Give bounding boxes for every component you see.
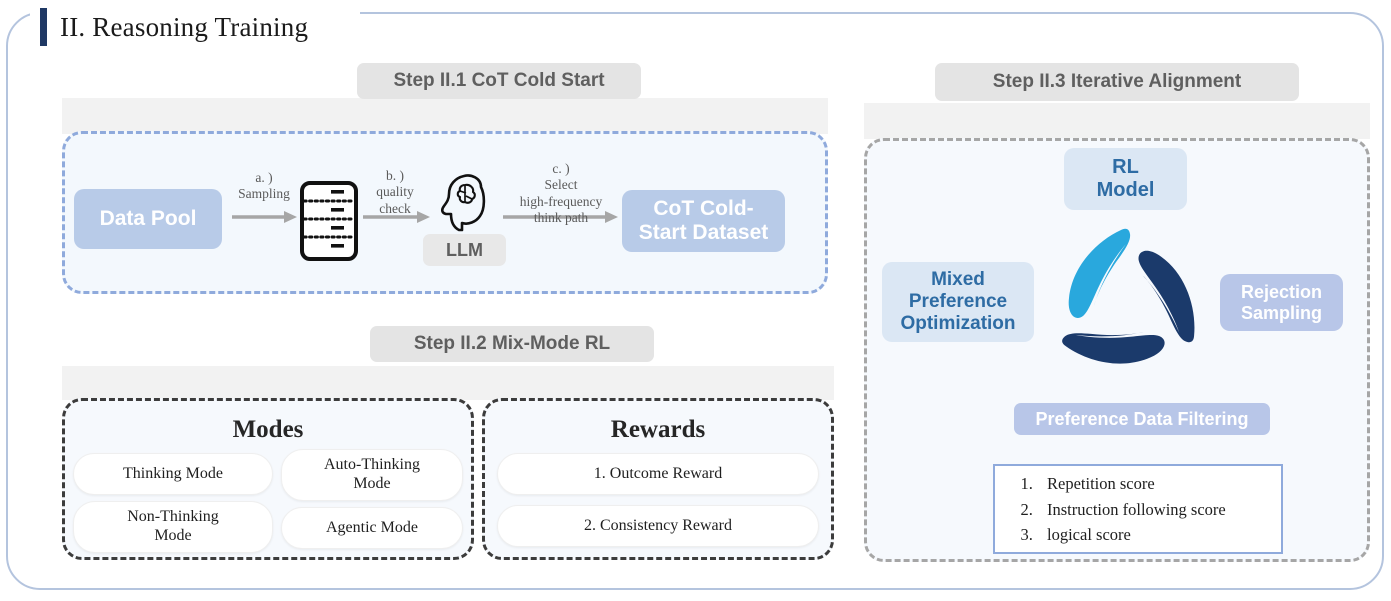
banner-mix-mode-rl [62, 366, 834, 400]
score-item-logical: logical score [1037, 522, 1281, 548]
arrow-label-b: b. ) quality check [362, 168, 428, 217]
reward-item-outcome[interactable]: 1. Outcome Reward [497, 453, 819, 495]
panel-modes: Modes Thinking Mode Auto-Thinking Mode N… [62, 398, 474, 560]
node-mixed-preference-optimization[interactable]: Mixed Preference Optimization [882, 262, 1034, 342]
brain-head-icon [435, 173, 495, 235]
mode-item-thinking[interactable]: Thinking Mode [73, 453, 273, 495]
score-item-instruction-following: Instruction following score [1037, 497, 1281, 523]
three-petal-cycle-icon [1032, 208, 1222, 396]
node-data-pool[interactable]: Data Pool [74, 189, 222, 249]
mode-item-auto-thinking[interactable]: Auto-Thinking Mode [281, 449, 463, 501]
mode-item-agentic[interactable]: Agentic Mode [281, 507, 463, 549]
score-list-box: Repetition score Instruction following s… [993, 464, 1283, 554]
section-title-block: II. Reasoning Training [40, 5, 308, 49]
step-label-mix-mode-rl: Step II.2 Mix-Mode RL [370, 326, 654, 362]
page-title: II. Reasoning Training [60, 12, 308, 43]
rewards-title: Rewards [485, 416, 831, 444]
node-preference-data-filtering[interactable]: Preference Data Filtering [1014, 403, 1270, 435]
document-list-icon [298, 180, 360, 262]
arrow-label-a: a. ) Sampling [222, 170, 306, 203]
panel-rewards: Rewards 1. Outcome Reward 2. Consistency… [482, 398, 834, 560]
score-list: Repetition score Instruction following s… [1009, 471, 1281, 548]
banner-cold-start [62, 98, 828, 134]
score-item-repetition: Repetition score [1037, 471, 1281, 497]
banner-iterative-alignment [864, 103, 1370, 139]
step-label-iterative-alignment: Step II.3 Iterative Alignment [935, 63, 1299, 101]
node-rl-model[interactable]: RL Model [1064, 148, 1187, 210]
step-label-cold-start: Step II.1 CoT Cold Start [357, 63, 641, 99]
node-rejection-sampling[interactable]: Rejection Sampling [1220, 274, 1343, 331]
arrow-sampling [232, 209, 298, 225]
arrow-label-c: c. ) Select high-frequency think path [497, 161, 625, 227]
node-llm[interactable]: LLM [423, 234, 506, 266]
title-accent-bar [40, 8, 47, 46]
reward-item-consistency[interactable]: 2. Consistency Reward [497, 505, 819, 547]
modes-title: Modes [65, 416, 471, 444]
mode-item-non-thinking[interactable]: Non-Thinking Mode [73, 501, 273, 553]
node-cot-cold-start-dataset[interactable]: CoT Cold- Start Dataset [622, 190, 785, 252]
